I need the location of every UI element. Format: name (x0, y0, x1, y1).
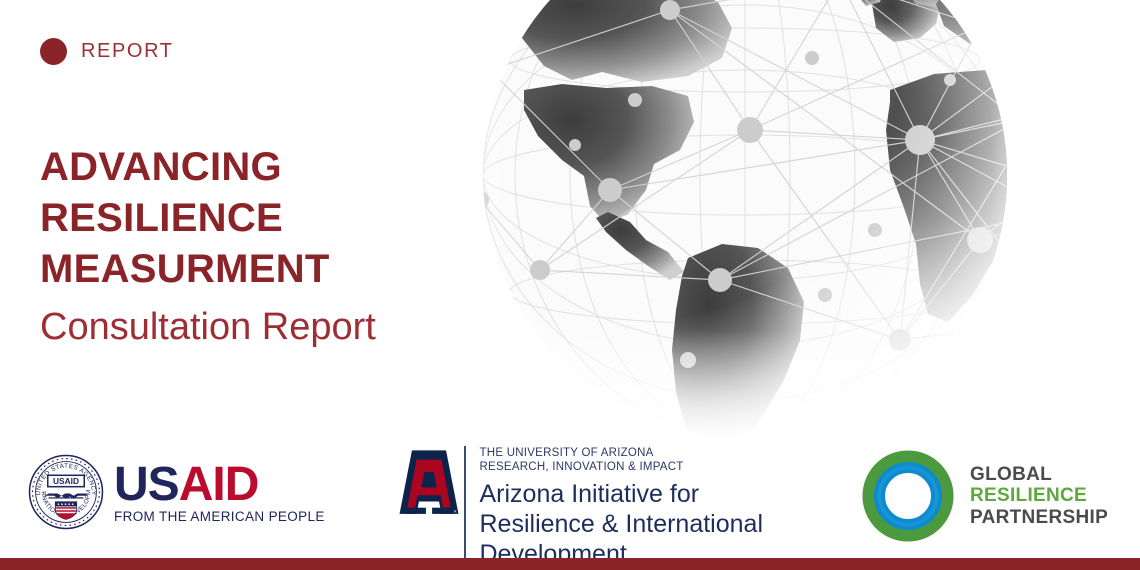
arizona-logo: R THE UNIVERSITY OF ARIZONA RESEARCH, IN… (398, 442, 763, 569)
usaid-tagline: FROM THE AMERICAN PEOPLE (114, 509, 325, 524)
usaid-letters: USAID (114, 461, 325, 508)
arizona-eyebrow-1: THE UNIVERSITY OF ARIZONA (480, 447, 764, 461)
usaid-seal-icon: UNITED STATES AGENCY INTERNATIONAL DEVEL… (28, 454, 104, 530)
arizona-block-a-icon: R (398, 448, 460, 524)
arizona-name-line-2: Resilience & International (480, 509, 764, 539)
grp-logo: GLOBAL RESILIENCE PARTNERSHIP (862, 450, 1108, 542)
page-subtitle: Consultation Report (40, 304, 440, 350)
title-line-3: MEASURMENT (40, 244, 440, 295)
grp-line-global: GLOBAL (970, 464, 1108, 486)
grp-line-resilience: RESILIENCE (970, 485, 1108, 507)
arizona-name-line-1: Arizona Initiative for (480, 479, 764, 509)
arizona-initiative-name: Arizona Initiative for Resilience & Inte… (480, 479, 764, 569)
footer-accent-bar (0, 558, 1140, 570)
usaid-aid: AID (179, 458, 259, 511)
title-line-1: ADVANCING (40, 142, 440, 193)
globe-fade-right (990, 0, 1140, 440)
filled-circle-icon (40, 38, 67, 65)
usaid-us: US (114, 458, 179, 511)
svg-text:USAID: USAID (53, 476, 79, 486)
grp-ring-icon (862, 450, 954, 542)
eyebrow-label: REPORT (81, 40, 174, 63)
page-title: ADVANCING RESILIENCE MEASURMENT Consulta… (40, 142, 440, 350)
grp-text: GLOBAL RESILIENCE PARTNERSHIP (970, 464, 1108, 529)
arizona-text: THE UNIVERSITY OF ARIZONA RESEARCH, INNO… (480, 442, 764, 569)
title-line-2: RESILIENCE (40, 193, 440, 244)
report-cover: REPORT ADVANCING RESILIENCE MEASURMENT C… (0, 0, 1140, 570)
usaid-wordmark: USAID FROM THE AMERICAN PEOPLE (114, 461, 325, 524)
grp-line-partnership: PARTNERSHIP (970, 507, 1108, 529)
logo-strip: UNITED STATES AGENCY INTERNATIONAL DEVEL… (0, 440, 1140, 550)
eyebrow: REPORT (40, 38, 174, 65)
arizona-eyebrow-2: RESEARCH, INNOVATION & IMPACT (480, 461, 764, 475)
usaid-logo: UNITED STATES AGENCY INTERNATIONAL DEVEL… (28, 454, 325, 530)
globe-fade-bottom (420, 330, 1140, 440)
arizona-divider (464, 446, 466, 565)
globe-network-graphic (420, 0, 1140, 440)
